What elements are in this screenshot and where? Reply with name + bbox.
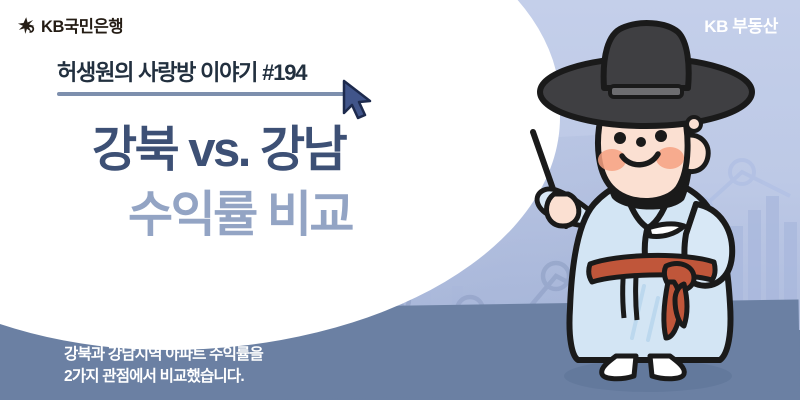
- subcopy-line-1: 강북과 강남지역 아파트 수익률을: [64, 344, 263, 366]
- gat-crown: [604, 23, 689, 88]
- sash-tail-right: [675, 284, 687, 326]
- eye-right: [655, 130, 667, 142]
- headline-line-1: 강북 vs. 강남: [92, 110, 345, 181]
- left-hand: [547, 194, 579, 226]
- series-title-underline: [57, 92, 353, 96]
- kb-realestate-label: KB 부동산: [704, 12, 778, 37]
- eye-left: [614, 132, 626, 144]
- series-title: 허생원의 사랑방 이야기 #194: [57, 55, 306, 87]
- gat-band: [610, 86, 682, 97]
- cheek-right: [656, 147, 684, 169]
- character-shadow: [564, 360, 732, 392]
- kb-realestate-banner: KB국민은행 KB 부동산 허생원의 사랑방 이야기 #194 강북 vs. 강…: [0, 0, 800, 400]
- kb-star-icon: [17, 16, 36, 35]
- nose: [636, 137, 646, 147]
- kb-bank-logo: KB국민은행: [17, 13, 123, 37]
- mouse-cursor-icon: [340, 79, 376, 121]
- korean-scholar-character: [498, 8, 800, 400]
- subcopy-line-2: 2가지 관점에서 비교했습니다.: [64, 366, 263, 388]
- kb-bank-logo-text: KB국민은행: [41, 13, 123, 37]
- headline-line-2: 수익률 비교: [128, 175, 352, 246]
- subcopy: 강북과 강남지역 아파트 수익률을 2가지 관점에서 비교했습니다.: [64, 344, 263, 389]
- gat-strap-bead: [687, 117, 701, 131]
